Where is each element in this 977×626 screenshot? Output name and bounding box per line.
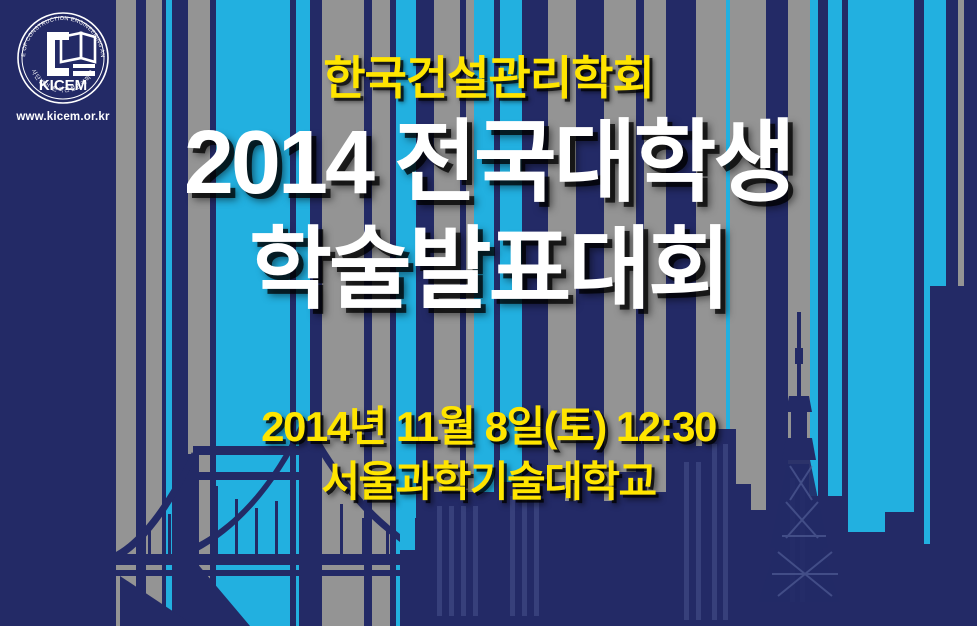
event-venue: 서울과학기술대학교 xyxy=(0,448,977,509)
association-name: 한국건설관리학회 xyxy=(0,42,977,108)
poster-canvas: KOREA INSTITUTE OF CONSTRUCTION ENGINEER… xyxy=(0,0,977,626)
poster-title-line-2: 학술발표대회 xyxy=(0,225,977,315)
poster-title-line-1: 2014 전국대학생 xyxy=(0,118,977,208)
event-date: 2014년 11월 8일(토) 12:30 xyxy=(0,393,977,454)
